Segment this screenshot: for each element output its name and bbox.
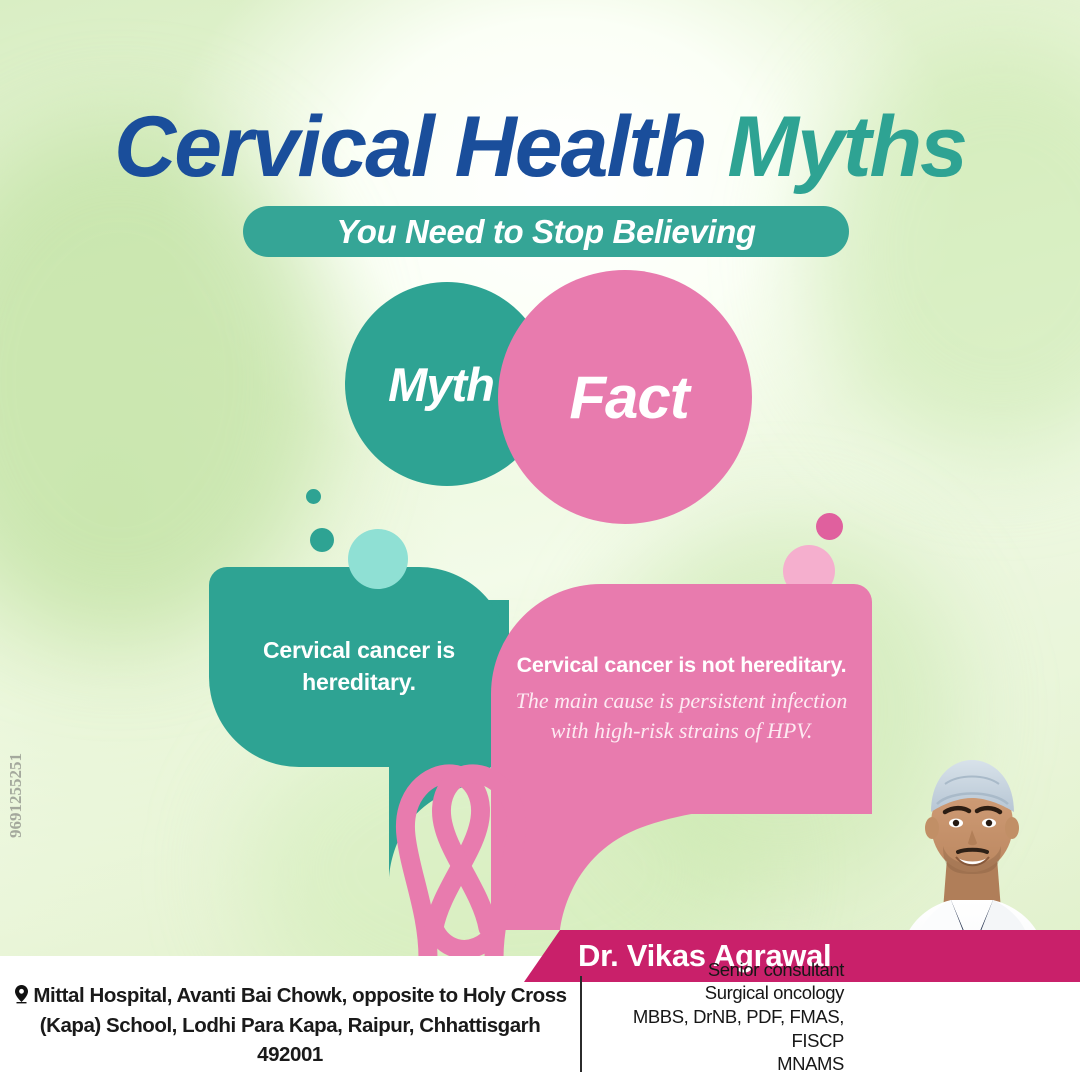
page-title: Cervical Health Myths [0,104,1080,190]
doctor-qualifications-line-2: MNAMS [596,1052,844,1076]
decorative-dot-pink-small [816,513,843,540]
subtitle-text: You Need to Stop Believing [336,213,755,251]
fact-headline-text: Cervical cancer is not hereditary. [517,652,847,680]
awareness-ribbon-icon [382,762,567,962]
address-line-2: (Kapa) School, Lodhi Para Kapa, Raipur, … [10,1011,570,1070]
myth-statement-text: Cervical cancer is hereditary. [235,635,483,698]
doctor-role-line-1: Senior consultant [596,958,844,982]
title-accent: Myths [727,99,965,195]
decorative-dot-teal-medium [310,528,334,552]
myth-statement-bubble: Cervical cancer is hereditary. [209,567,509,767]
doctor-role-line-2: Surgical oncology [596,981,844,1005]
fact-badge-circle: Fact [498,270,752,524]
phone-watermark: 9691255251 [6,753,26,838]
fact-badge-label: Fact [569,363,688,432]
doctor-qualifications-line-1: MBBS, DrNB, PDF, FMAS, FISCP [596,1005,844,1052]
fact-detail-text: The main cause is persistent infection w… [515,686,848,746]
decorative-dot-teal-large [348,529,408,589]
location-pin-icon [13,984,30,1004]
doctor-credentials: Senior consultant Surgical oncology MBBS… [596,958,844,1076]
decorative-dot-teal-small [306,489,321,504]
title-primary: Cervical Health [114,99,705,195]
footer-divider [580,976,582,1072]
address-line-1: Mittal Hospital, Avanti Bai Chowk, oppos… [33,984,566,1007]
myth-badge-label: Myth [388,357,494,412]
clinic-address: Mittal Hospital, Avanti Bai Chowk, oppos… [10,981,570,1070]
watermark-text: 9691255251 [6,753,25,838]
subtitle-pill: You Need to Stop Believing [243,206,849,257]
